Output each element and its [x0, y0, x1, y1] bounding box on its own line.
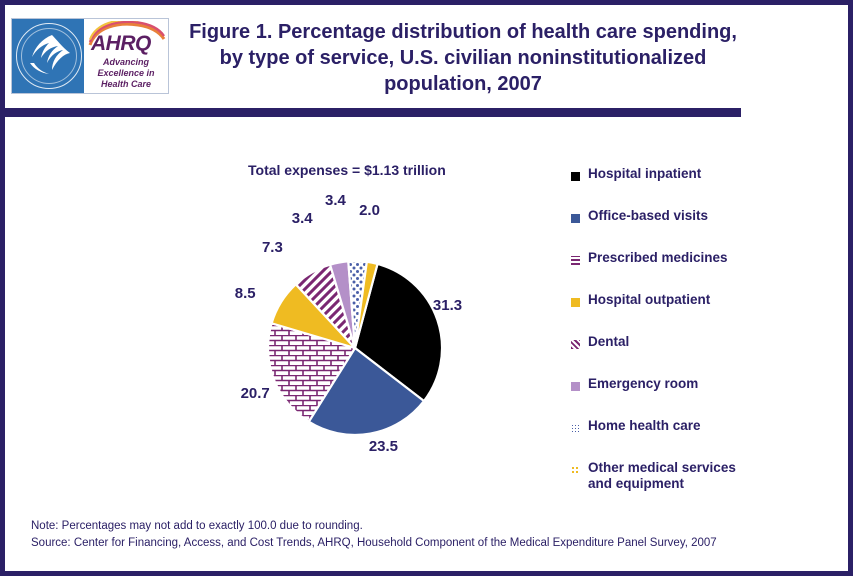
pie-data-label: 2.0 — [359, 202, 380, 219]
legend-item[interactable]: Hospital inpatient — [571, 168, 846, 210]
ahrq-tagline: Advancing Excellence in Health Care — [84, 57, 168, 90]
legend-item-label: Hospital inpatient — [588, 166, 701, 182]
pie-data-label: 7.3 — [262, 239, 283, 256]
legend-item[interactable]: Prescribed medicines — [571, 252, 846, 294]
legend-item[interactable]: Hospital outpatient — [571, 294, 846, 336]
total-expenses-label: Total expenses = $1.13 trillion — [248, 162, 446, 178]
chart-legend: Hospital inpatientOffice-based visitsPre… — [571, 168, 846, 504]
legend-item[interactable]: Office-based visits — [571, 210, 846, 252]
legend-swatch-black-icon — [571, 172, 580, 181]
hhs-seal-icon — [12, 19, 84, 93]
figure-slide: AHRQ Advancing Excellence in Health Care… — [0, 0, 853, 576]
footnote-source: Source: Center for Financing, Access, an… — [31, 535, 831, 552]
legend-swatch-diagonal-icon — [571, 340, 580, 349]
legend-item-label: Office-based visits — [588, 208, 708, 224]
legend-item-label: Prescribed medicines — [588, 250, 728, 266]
pie-data-label: 3.4 — [292, 210, 313, 227]
pie-data-label: 8.5 — [235, 285, 256, 302]
legend-item[interactable]: Home health care — [571, 420, 846, 462]
legend-swatch-brick-icon — [571, 256, 580, 265]
figure-footnotes: Note: Percentages may not add to exactly… — [31, 518, 831, 552]
agency-logo: AHRQ Advancing Excellence in Health Care — [11, 18, 169, 94]
footnote-note: Note: Percentages may not add to exactly… — [31, 518, 831, 535]
legend-swatch-blue-icon — [571, 214, 580, 223]
legend-item-label: Home health care — [588, 418, 701, 434]
legend-swatch-dots-icon — [571, 424, 580, 433]
pie-data-label: 3.4 — [325, 192, 346, 209]
legend-item[interactable]: Emergency room — [571, 378, 846, 420]
pie-slices — [268, 261, 442, 435]
legend-item[interactable]: Other medical services and equipment — [571, 462, 846, 504]
legend-item-label: Dental — [588, 334, 629, 350]
legend-swatch-goldpattern-icon — [571, 466, 580, 475]
pie-data-label: 31.3 — [433, 297, 462, 314]
legend-item-label: Hospital outpatient — [588, 292, 710, 308]
ahrq-logo: AHRQ Advancing Excellence in Health Care — [84, 19, 168, 93]
legend-item[interactable]: Dental — [571, 336, 846, 378]
pie-data-label: 20.7 — [241, 385, 270, 402]
legend-swatch-gold-icon — [571, 298, 580, 307]
page-title: Figure 1. Percentage distribution of hea… — [183, 19, 743, 97]
slide-header: AHRQ Advancing Excellence in Health Care… — [5, 5, 848, 103]
pie-chart: 31.323.520.78.57.33.43.42.0 — [205, 245, 535, 455]
legend-item-label: Emergency room — [588, 376, 698, 392]
legend-item-label: Other medical services and equipment — [588, 460, 736, 492]
legend-swatch-lightpurple-icon — [571, 382, 580, 391]
pie-data-label: 23.5 — [369, 438, 398, 455]
header-rule — [5, 108, 741, 117]
ahrq-wordmark: AHRQ — [91, 33, 151, 54]
